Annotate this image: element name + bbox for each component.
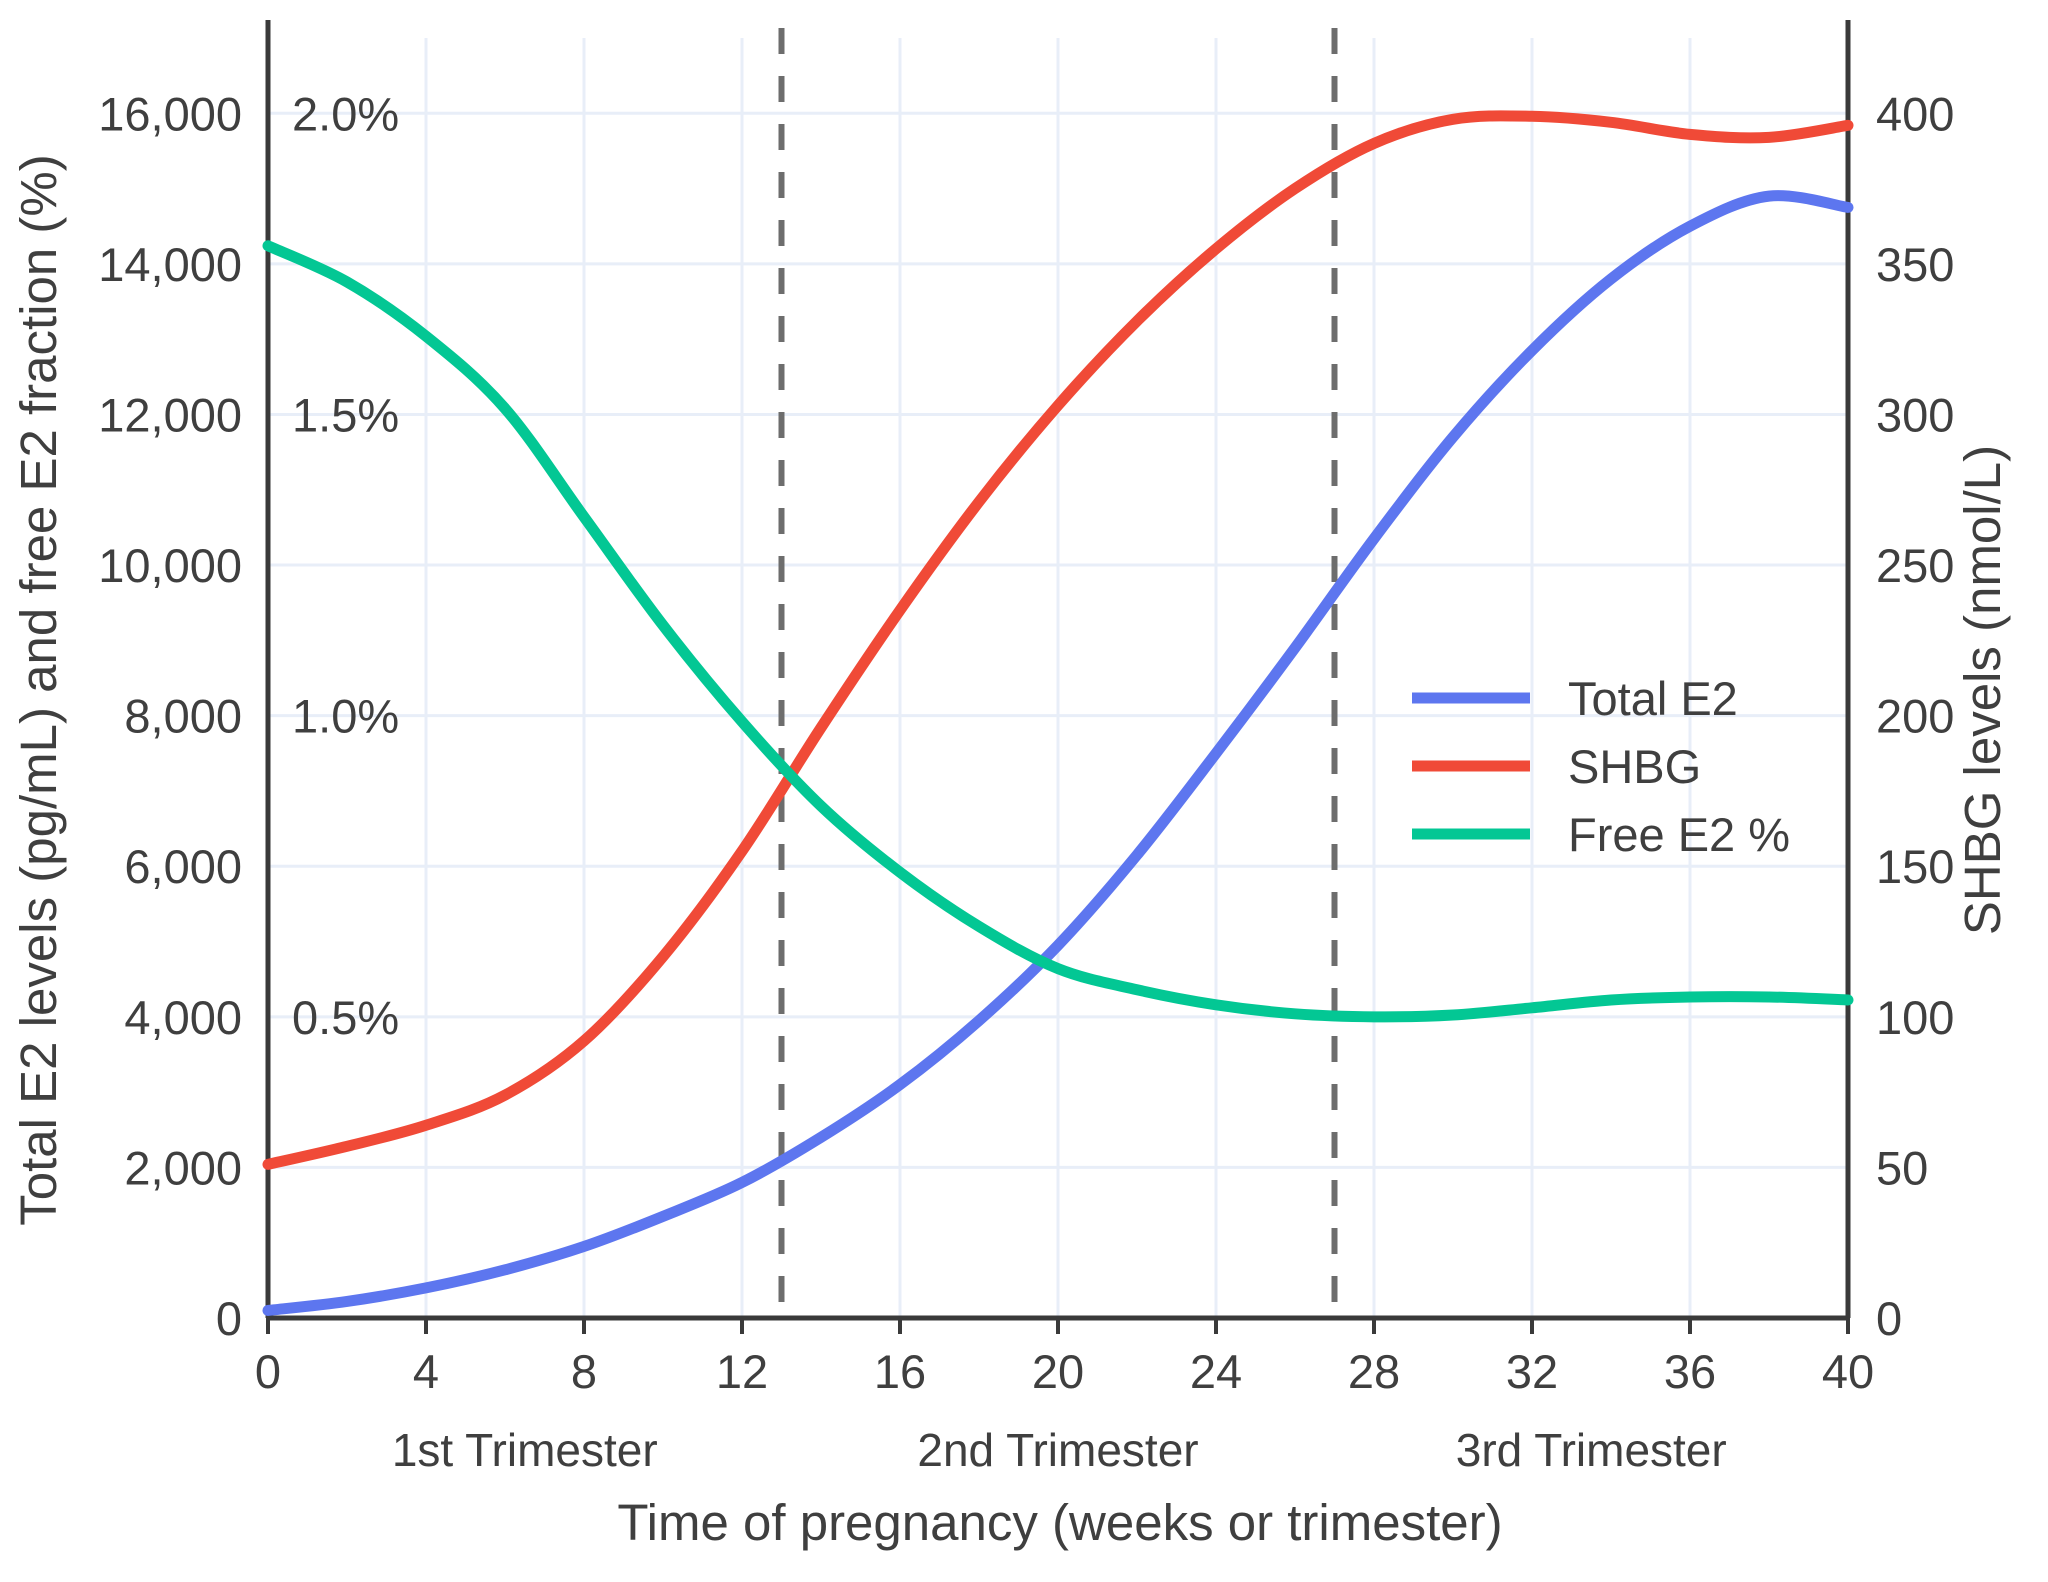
x-tick-label: 16 — [874, 1345, 926, 1398]
right-y-tick-label: 0 — [1876, 1292, 1902, 1345]
right-y-tick-label: 400 — [1876, 87, 1954, 140]
percent-annotation-1-0: 1.0% — [292, 690, 399, 743]
legend-label-free-e2[interactable]: Free E2 % — [1568, 808, 1790, 861]
right-y-tick-label: 350 — [1876, 238, 1954, 291]
chart-canvas: 02,0004,0006,0008,00010,00012,00014,0001… — [0, 0, 2048, 1582]
trimester-labels: 1st Trimester2nd Trimester3rd Trimester — [392, 1424, 1727, 1476]
right-y-tick-label: 50 — [1876, 1141, 1928, 1194]
x-tick-label: 24 — [1190, 1345, 1242, 1398]
trimester-label: 2nd Trimester — [917, 1424, 1198, 1476]
right-y-tick-label: 300 — [1876, 388, 1954, 441]
x-tick-label: 20 — [1032, 1345, 1084, 1398]
left-y-tick-label: 0 — [216, 1292, 242, 1345]
x-tick-label: 40 — [1822, 1345, 1874, 1398]
left-y-tick-label: 16,000 — [98, 87, 242, 140]
legend-label-shbg[interactable]: SHBG — [1568, 740, 1701, 793]
x-tick-label: 8 — [571, 1345, 597, 1398]
left-y-tick-label: 12,000 — [98, 388, 242, 441]
right-y-tick-label: 250 — [1876, 539, 1954, 592]
right-axis-title: SHBG levels (nmol/L) — [1954, 445, 2011, 935]
x-tick-label: 4 — [413, 1345, 439, 1398]
percent-annotation-0-5: 0.5% — [292, 991, 399, 1044]
trimester-label: 3rd Trimester — [1456, 1424, 1727, 1476]
right-axis-tick-labels: 050100150200250300350400 — [1876, 87, 1954, 1345]
left-y-tick-label: 6,000 — [124, 840, 242, 893]
x-axis-tick-labels: 0481216202428323640 — [255, 1345, 1874, 1398]
left-y-tick-label: 10,000 — [98, 539, 242, 592]
left-axis-tick-labels: 02,0004,0006,0008,00010,00012,00014,0001… — [98, 87, 242, 1345]
x-tick-label: 32 — [1506, 1345, 1558, 1398]
legend-label-total-e2[interactable]: Total E2 — [1568, 672, 1738, 725]
left-y-tick-label: 8,000 — [124, 690, 242, 743]
x-tick-label: 0 — [255, 1345, 281, 1398]
chart-legend: Total E2SHBGFree E2 % — [1412, 672, 1790, 861]
left-y-tick-label: 14,000 — [98, 238, 242, 291]
x-tick-label: 28 — [1348, 1345, 1400, 1398]
x-tick-label: 12 — [716, 1345, 768, 1398]
left-axis-title: Total E2 levels (pg/mL) and free E2 frac… — [10, 154, 67, 1225]
x-axis-title: Time of pregnancy (weeks or trimester) — [617, 1494, 1502, 1551]
right-y-tick-label: 150 — [1876, 840, 1954, 893]
left-y-tick-label: 4,000 — [124, 991, 242, 1044]
left-y-tick-label: 2,000 — [124, 1141, 242, 1194]
x-tick-label: 36 — [1664, 1345, 1716, 1398]
percent-annotation-2-0: 2.0% — [292, 87, 399, 140]
right-y-tick-label: 100 — [1876, 991, 1954, 1044]
pregnancy-hormone-line-chart: 02,0004,0006,0008,00010,00012,00014,0001… — [0, 0, 2048, 1582]
percent-annotation-1-5: 1.5% — [292, 388, 399, 441]
right-y-tick-label: 200 — [1876, 690, 1954, 743]
trimester-label: 1st Trimester — [392, 1424, 658, 1476]
